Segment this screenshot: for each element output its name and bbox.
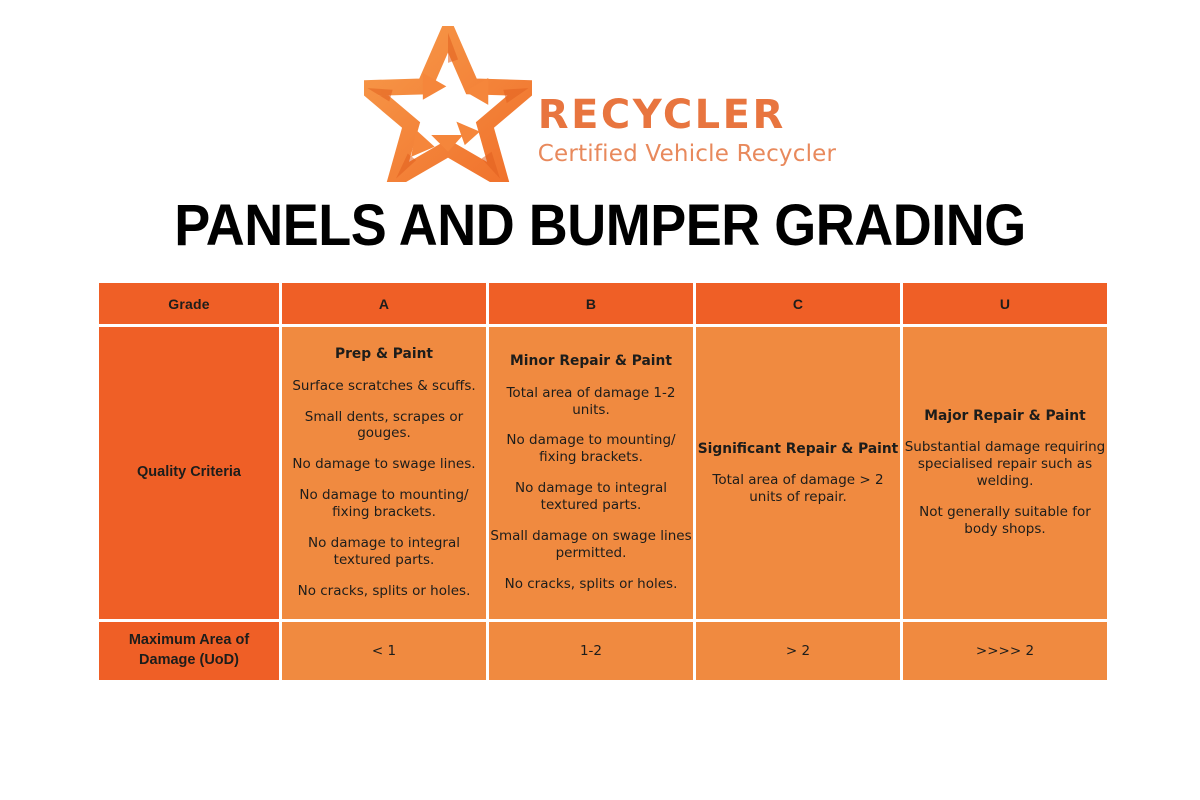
cell-line: Substantial damage requiring specialised… [903, 439, 1107, 490]
table-head: Grade A B C U [99, 283, 1107, 324]
cell-quality-criteria-c: Significant Repair & Paint Total area of… [696, 327, 900, 619]
header-grade-b: B [489, 283, 693, 324]
cell-heading: Minor Repair & Paint [489, 353, 693, 370]
cell-line: No cracks, splits or holes. [282, 583, 486, 600]
cell-line: No damage to integral textured parts. [282, 535, 486, 569]
cell-line: No damage to swage lines. [282, 456, 486, 473]
cell-uod-u: >>>> 2 [903, 622, 1107, 680]
cell-quality-criteria-a: Prep & Paint Surface scratches & scuffs.… [282, 327, 486, 619]
page-title: PANELS AND BUMPER GRADING [42, 192, 1158, 259]
row-label-maximum-area-of-damage: Maximum Area of Damage (UoD) [99, 622, 279, 680]
header-grade-label: Grade [99, 283, 279, 324]
cell-uod-a: < 1 [282, 622, 486, 680]
header-grade-a: A [282, 283, 486, 324]
table-row: Maximum Area of Damage (UoD) < 1 1-2 > 2… [99, 622, 1107, 680]
table-body: Quality Criteria Prep & Paint Surface sc… [99, 327, 1107, 680]
cell-line: Small damage on swage lines permitted. [489, 528, 693, 562]
cell-line: No damage to mounting/ fixing brackets. [282, 487, 486, 521]
cell-quality-criteria-u: Major Repair & Paint Substantial damage … [903, 327, 1107, 619]
cell-heading: Significant Repair & Paint [696, 441, 900, 458]
cell-uod-b: 1-2 [489, 622, 693, 680]
cell-heading: Major Repair & Paint [903, 408, 1107, 425]
recycling-star-icon [364, 26, 532, 182]
row-label-quality-criteria: Quality Criteria [99, 327, 279, 619]
table-header-row: Grade A B C U [99, 283, 1107, 324]
cell-line: Total area of damage 1-2 units. [489, 385, 693, 419]
cell-line: No damage to mounting/ fixing brackets. [489, 432, 693, 466]
cell-line: No damage to integral textured parts. [489, 480, 693, 514]
header-grade-u: U [903, 283, 1107, 324]
cell-heading: Prep & Paint [282, 346, 486, 363]
cell-line: Surface scratches & scuffs. [282, 378, 486, 395]
cell-quality-criteria-b: Minor Repair & Paint Total area of damag… [489, 327, 693, 619]
table-row: Quality Criteria Prep & Paint Surface sc… [99, 327, 1107, 619]
header-grade-c: C [696, 283, 900, 324]
brand-name: RECYCLER [538, 95, 836, 135]
logo-inner: RECYCLER Certified Vehicle Recycler [364, 26, 836, 182]
cell-line: Total area of damage > 2 units of repair… [696, 472, 900, 506]
brand-logo: RECYCLER Certified Vehicle Recycler [0, 24, 1200, 184]
cell-line: Small dents, scrapes or gouges. [282, 409, 486, 443]
cell-line: No cracks, splits or holes. [489, 576, 693, 593]
panels-bumper-grading-table: Grade A B C U Quality Criteria Prep & Pa… [96, 280, 1110, 683]
brand-wordmark: RECYCLER Certified Vehicle Recycler [538, 43, 836, 166]
cell-line: Not generally suitable for body shops. [903, 504, 1107, 538]
brand-tagline: Certified Vehicle Recycler [538, 143, 836, 166]
cell-uod-c: > 2 [696, 622, 900, 680]
